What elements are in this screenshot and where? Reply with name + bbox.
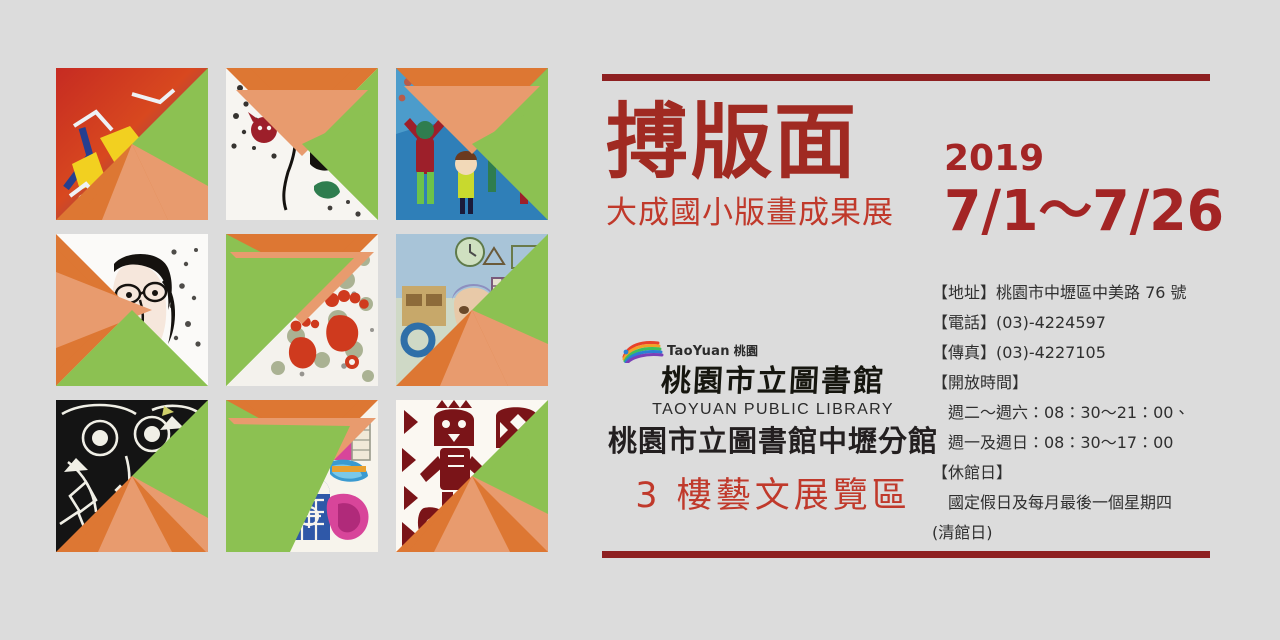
contact-line: 【地址】桃園市中壢區中美路 76 號 <box>932 278 1222 308</box>
tile-3-graphic <box>396 68 548 220</box>
artwork-tile <box>226 68 378 220</box>
subtitle: 大成國小版畫成果展 <box>606 196 894 230</box>
tile-1-graphic <box>56 68 208 220</box>
page-title: 搏版面 <box>606 100 894 186</box>
contact-line: (清館日) <box>932 518 1222 548</box>
info-column: 搏版面 大成國小版畫成果展 2019 7/1〜7/26 TaoYuan桃園 桃園… <box>602 60 1212 570</box>
artwork-tile <box>56 234 208 386</box>
artwork-tile <box>56 400 208 552</box>
artwork-tile <box>396 234 548 386</box>
contact-line: 國定假日及每月最後一個星期四 <box>932 488 1222 518</box>
floor-location: 3 樓藝文展覽區 <box>608 475 938 517</box>
artwork-tile <box>396 400 548 552</box>
contact-info: 【地址】桃園市中壢區中美路 76 號【電話】(03)-4224597【傳真】(0… <box>932 278 1222 548</box>
title-block: 搏版面 大成國小版畫成果展 <box>606 100 894 230</box>
tile-6-graphic <box>396 234 548 386</box>
exhibition-year: 2019 <box>944 140 1236 178</box>
library-name-cn: 桃園市立圖書館 <box>607 365 939 399</box>
top-divider-rule <box>602 74 1210 81</box>
tile-8-graphic <box>226 400 378 552</box>
contact-line: 週一及週日：08：30〜17：00 <box>932 428 1222 458</box>
poster-canvas: 搏版面 大成國小版畫成果展 2019 7/1〜7/26 TaoYuan桃園 桃園… <box>0 0 1280 640</box>
taoyuan-wordmark-en: TaoYuan <box>667 344 730 359</box>
artwork-tile <box>396 68 548 220</box>
date-block: 2019 7/1〜7/26 <box>944 140 1236 242</box>
artwork-grid <box>56 68 568 580</box>
bottom-divider-rule <box>602 551 1210 558</box>
contact-line: 【電話】(03)-4224597 <box>932 308 1222 338</box>
tile-9-graphic <box>396 400 548 552</box>
artwork-tile <box>56 68 208 220</box>
tile-4-graphic <box>56 234 208 386</box>
tile-2-graphic <box>226 68 378 220</box>
library-name-en: TAOYUAN PUBLIC LIBRARY <box>608 400 938 419</box>
branch-name: 桃園市立圖書館中壢分館 <box>608 424 938 458</box>
contact-line: 【傳真】(03)-4227105 <box>932 338 1222 368</box>
contact-line: 【休館日】 <box>932 458 1222 488</box>
rainbow-swoosh-icon <box>620 339 664 363</box>
contact-line: 【開放時間】 <box>932 368 1222 398</box>
tile-5-graphic <box>226 234 378 386</box>
artwork-tile <box>226 234 378 386</box>
taoyuan-emblem: TaoYuan桃園 <box>620 338 938 364</box>
taoyuan-wordmark-cn: 桃園 <box>734 344 759 358</box>
taoyuan-wordmark: TaoYuan桃園 <box>667 345 758 358</box>
exhibition-date-range: 7/1〜7/26 <box>944 182 1224 242</box>
venue-block: TaoYuan桃園 桃園市立圖書館 TAOYUAN PUBLIC LIBRARY… <box>608 338 938 517</box>
artwork-tile <box>226 400 378 552</box>
tile-7-graphic <box>56 400 208 552</box>
contact-line: 週二〜週六：08：30〜21：00、 <box>932 398 1222 428</box>
